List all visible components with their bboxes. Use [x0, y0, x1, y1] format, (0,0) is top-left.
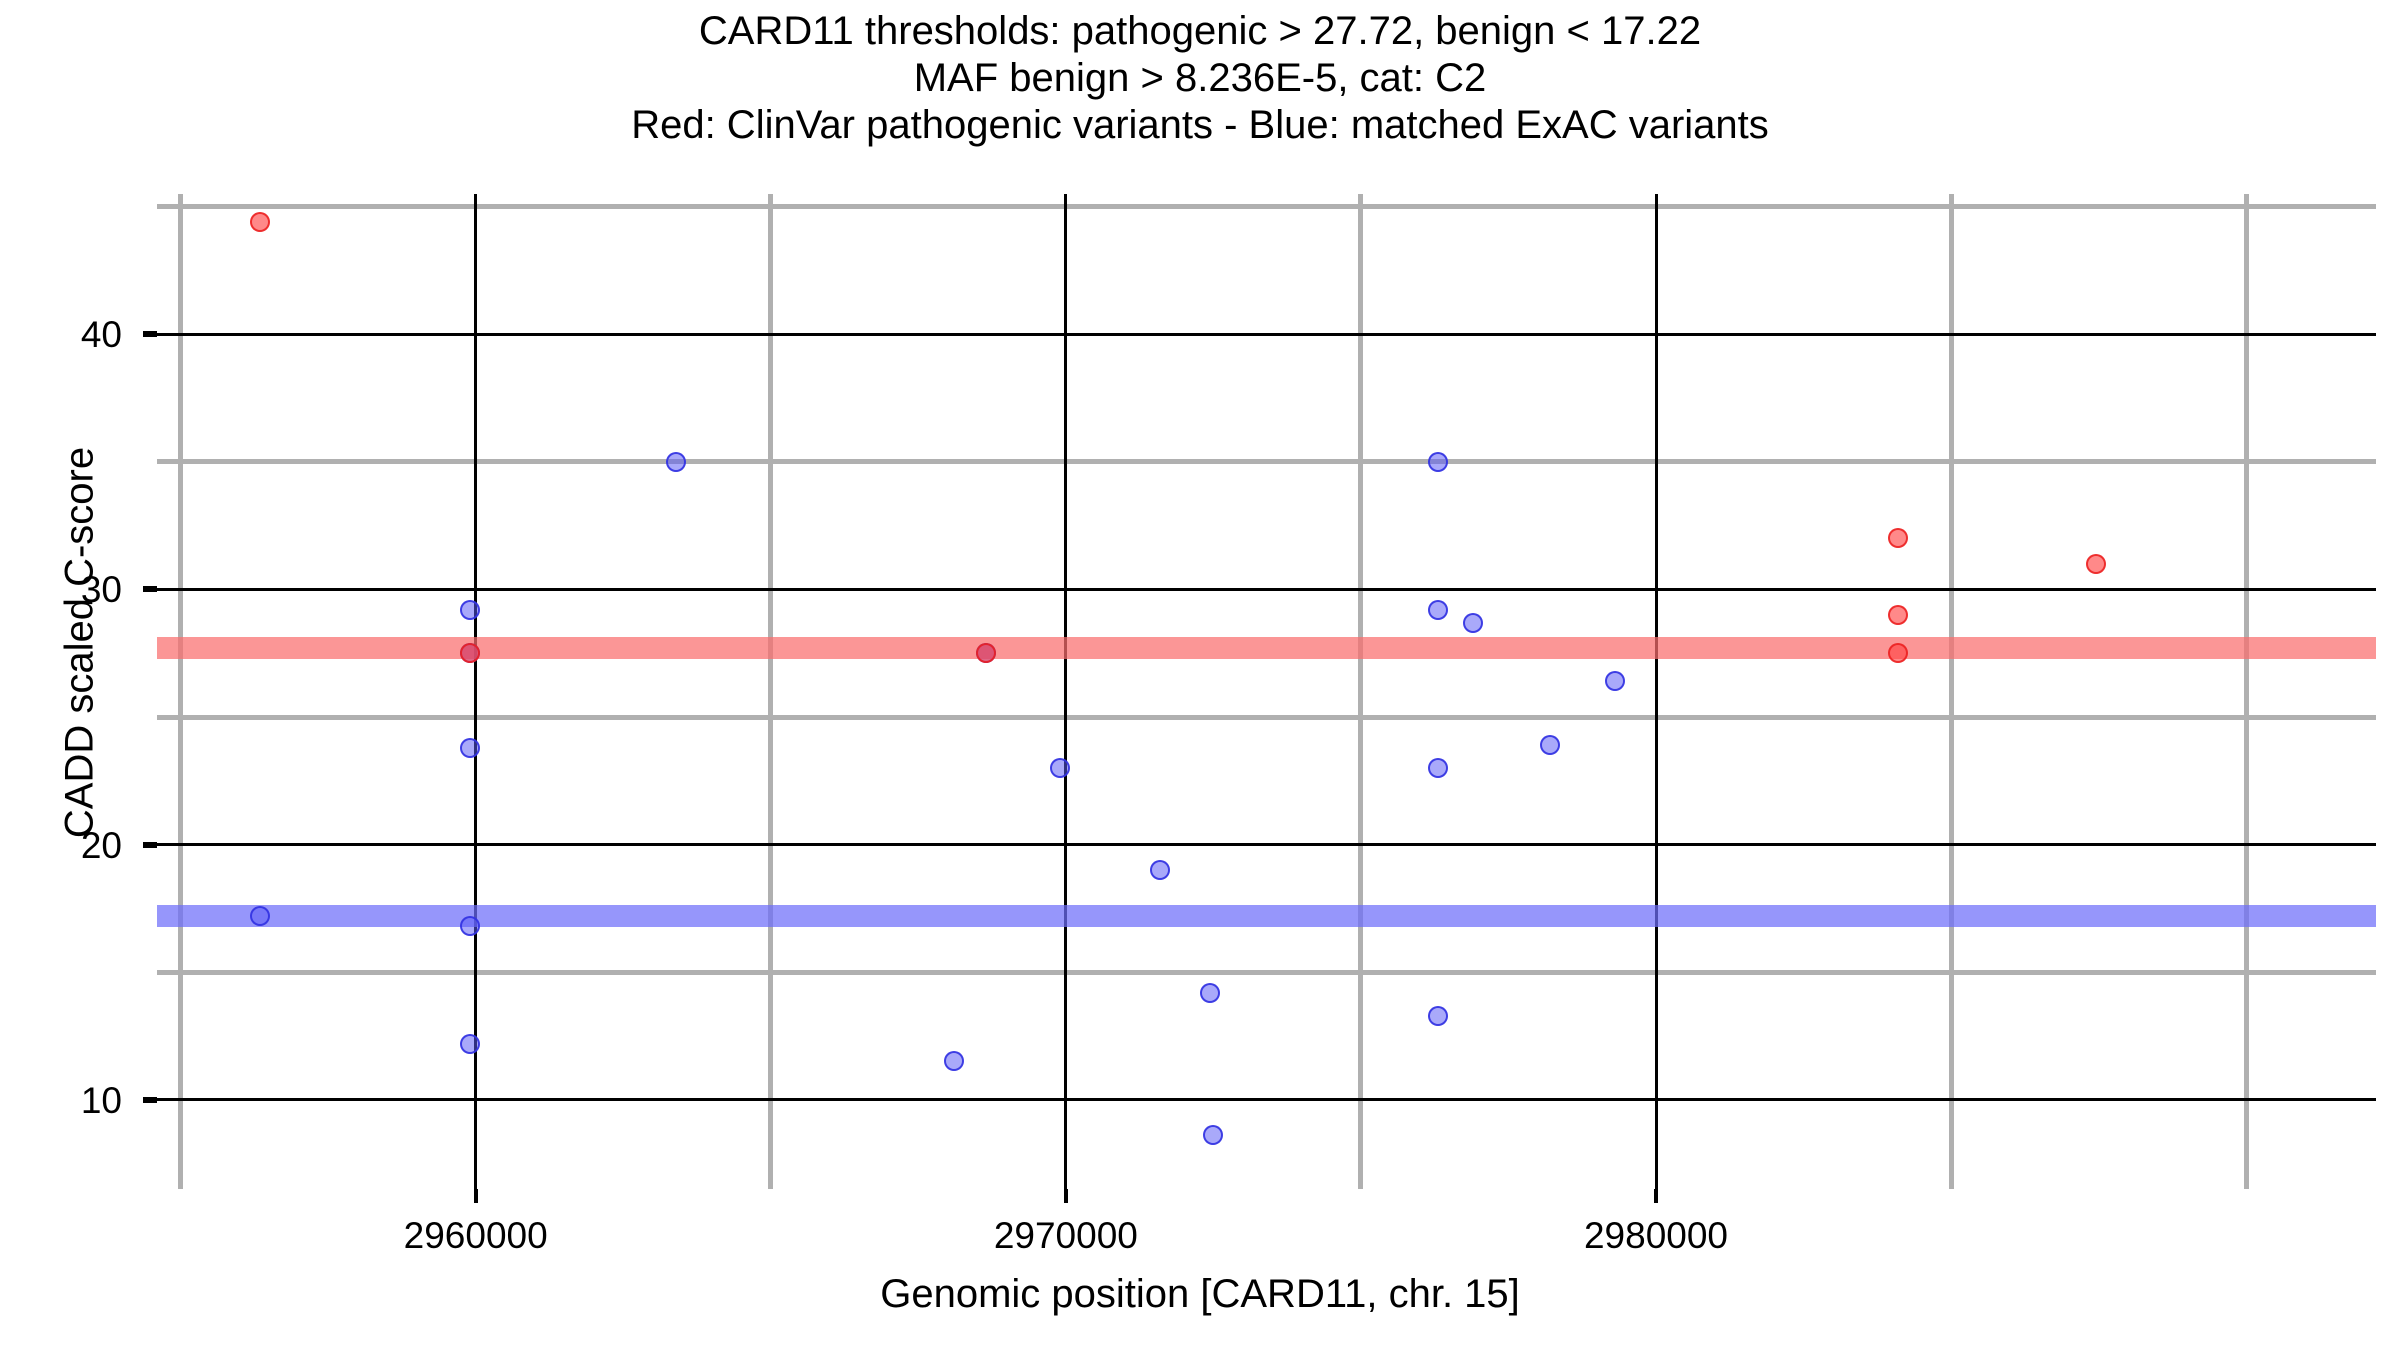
data-point-pathogenic [1888, 643, 1908, 663]
y-tick-mark [143, 842, 157, 848]
x-axis-label: Genomic position [CARD11, chr. 15] [0, 1272, 2400, 1317]
gridline-vertical [2244, 194, 2249, 1189]
axis-line-horizontal [157, 588, 2376, 591]
gridline-horizontal [157, 970, 2376, 975]
data-point-pathogenic [976, 643, 996, 663]
data-point-benign [460, 1034, 480, 1054]
data-point-benign [460, 916, 480, 936]
axis-line-vertical [1655, 194, 1658, 1189]
chart-title-line-2: MAF benign > 8.236E-5, cat: C2 [0, 55, 2400, 102]
gridline-horizontal [157, 459, 2376, 464]
axis-line-vertical [1064, 194, 1067, 1189]
y-tick-mark [143, 331, 157, 337]
y-tick-label: 30 [0, 571, 122, 608]
data-point-pathogenic [250, 212, 270, 232]
data-point-pathogenic [1888, 528, 1908, 548]
y-tick-label: 10 [0, 1082, 122, 1119]
axis-line-horizontal [157, 333, 2376, 336]
gridline-vertical [178, 194, 183, 1189]
chart-title-line-3: Red: ClinVar pathogenic variants - Blue:… [0, 102, 2400, 149]
gridline-horizontal [157, 715, 2376, 720]
x-tick-mark [1064, 1189, 1068, 1203]
y-tick-label: 40 [0, 316, 122, 353]
data-point-benign [944, 1051, 964, 1071]
data-point-benign [1050, 758, 1070, 778]
chart-title-line-1: CARD11 thresholds: pathogenic > 27.72, b… [0, 8, 2400, 55]
threshold-band-pathogenic_threshold [157, 637, 2376, 659]
data-point-pathogenic [2086, 554, 2106, 574]
data-point-benign [1540, 735, 1560, 755]
data-point-benign [1428, 600, 1448, 620]
axis-line-horizontal [157, 1098, 2376, 1101]
x-tick-mark [474, 1189, 478, 1203]
data-point-pathogenic [1888, 605, 1908, 625]
data-point-benign [1605, 671, 1625, 691]
chart-figure: CARD11 thresholds: pathogenic > 27.72, b… [0, 0, 2400, 1350]
data-point-benign [1428, 452, 1448, 472]
x-tick-label: 2980000 [1506, 1217, 1806, 1254]
y-tick-mark [143, 586, 157, 592]
y-tick-mark [143, 1097, 157, 1103]
x-tick-label: 2960000 [326, 1217, 626, 1254]
data-point-benign [1463, 613, 1483, 633]
data-point-pathogenic [460, 643, 480, 663]
gridline-vertical [1949, 194, 1954, 1189]
data-point-benign [1428, 758, 1448, 778]
data-point-benign [1200, 983, 1220, 1003]
x-tick-label: 2970000 [916, 1217, 1216, 1254]
chart-title: CARD11 thresholds: pathogenic > 27.72, b… [0, 8, 2400, 149]
data-point-benign [1428, 1006, 1448, 1026]
data-point-benign [666, 452, 686, 472]
threshold-band-benign_threshold [157, 905, 2376, 927]
y-axis-label: CADD scaled C-score [58, 323, 103, 963]
y-tick-label: 20 [0, 827, 122, 864]
data-point-benign [460, 738, 480, 758]
data-point-benign [460, 600, 480, 620]
gridline-vertical [1358, 194, 1363, 1189]
gridline-vertical [768, 194, 773, 1189]
gridline-horizontal [157, 204, 2376, 209]
plot-area [157, 194, 2376, 1189]
data-point-benign [1203, 1125, 1223, 1145]
x-tick-mark [1654, 1189, 1658, 1203]
data-point-benign [1150, 860, 1170, 880]
axis-line-horizontal [157, 843, 2376, 846]
